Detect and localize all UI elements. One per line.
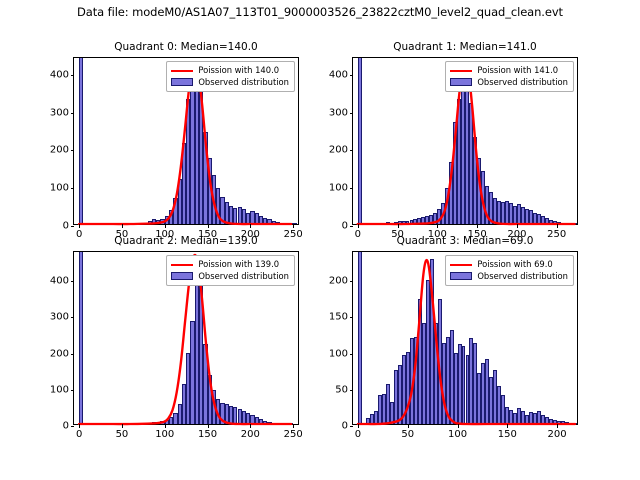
x-tick [165,424,166,428]
x-tick [293,424,294,428]
x-tick [517,224,518,228]
y-tick-label: 400 [50,69,69,80]
y-tick [71,317,75,318]
y-tick-label: 400 [50,276,69,287]
x-tick [122,424,123,428]
x-tick [398,224,399,228]
y-tick [350,281,354,282]
line-swatch-icon [171,70,193,72]
y-tick [350,426,354,427]
y-tick-label: 300 [50,107,69,118]
y-tick-label: 100 [329,183,348,194]
y-tick [71,226,75,227]
subplot-quadrant-0: Quadrant 0: Median=140.00501001502002500… [73,57,299,225]
legend-label-poisson: Poission with 140.0 [198,65,279,77]
legend-quadrant-3: Poission with 69.0Observed distribution [445,255,574,286]
legend-label-poisson: Poission with 69.0 [477,259,552,271]
x-tick [458,424,459,428]
legend-quadrant-0: Poission with 140.0Observed distribution [166,61,295,92]
subplot-quadrant-3: Quadrant 3: Median=69.005010015020005010… [352,251,578,425]
x-tick [79,424,80,428]
y-tick [350,113,354,114]
legend-entry-observed: Observed distribution [171,271,289,283]
x-tick-label: 100 [448,429,467,440]
patch-swatch-icon [171,272,193,280]
x-tick [358,224,359,228]
y-tick-label: 100 [50,384,69,395]
y-tick-label: 300 [50,312,69,323]
y-tick-label: 200 [329,276,348,287]
line-swatch-icon [450,264,472,266]
subplot-title-quadrant-2: Quadrant 2: Median=139.0 [73,235,299,247]
y-tick-label: 0 [63,421,69,432]
y-tick-label: 0 [342,421,348,432]
y-tick [71,354,75,355]
y-tick-label: 200 [329,145,348,156]
y-tick [350,354,354,355]
subplot-title-quadrant-1: Quadrant 1: Median=141.0 [352,41,578,53]
y-tick-label: 400 [329,69,348,80]
y-tick [350,188,354,189]
y-tick-label: 150 [329,312,348,323]
legend-label-observed: Observed distribution [477,271,568,283]
x-tick [477,224,478,228]
legend-label-observed: Observed distribution [198,271,289,283]
y-tick-label: 50 [335,384,348,395]
subplot-title-quadrant-0: Quadrant 0: Median=140.0 [73,41,299,53]
subplot-quadrant-1: Quadrant 1: Median=141.00501001502002500… [352,57,578,225]
y-tick [350,226,354,227]
subplot-quadrant-2: Quadrant 2: Median=139.00501001502002500… [73,251,299,425]
x-tick-label: 0 [355,429,361,440]
plot-area-quadrant-2: 0501001502002500100200300400Poission wit… [73,251,299,425]
x-tick [250,424,251,428]
plot-area-quadrant-3: 050100150200050100150200Poission with 69… [352,251,578,425]
plot-area-quadrant-1: 0501001502002500100200300400Poission wit… [352,57,578,225]
x-tick [122,224,123,228]
x-tick [250,224,251,228]
figure-canvas: Data file: modeM0/AS1A07_113T01_90000035… [0,0,640,480]
legend-entry-observed: Observed distribution [450,77,568,89]
x-tick [557,224,558,228]
legend-entry-observed: Observed distribution [450,271,568,283]
y-tick [350,317,354,318]
y-tick-label: 300 [329,107,348,118]
patch-swatch-icon [171,78,193,86]
legend-entry-poisson: Poission with 141.0 [450,65,568,77]
y-tick [71,426,75,427]
x-tick [507,424,508,428]
x-tick [358,424,359,428]
x-tick [293,224,294,228]
y-tick [350,150,354,151]
legend-label-poisson: Poission with 139.0 [198,259,279,271]
y-tick-label: 200 [50,348,69,359]
legend-entry-poisson: Poission with 139.0 [171,259,289,271]
x-tick [208,224,209,228]
y-tick-label: 100 [50,183,69,194]
patch-swatch-icon [450,272,472,280]
legend-label-poisson: Poission with 141.0 [477,65,558,77]
line-swatch-icon [171,264,193,266]
legend-quadrant-2: Poission with 139.0Observed distribution [166,255,295,286]
legend-entry-poisson: Poission with 140.0 [171,65,289,77]
y-tick [71,390,75,391]
y-tick [71,188,75,189]
x-tick [208,424,209,428]
plot-area-quadrant-0: 0501001502002500100200300400Poission wit… [73,57,299,225]
y-tick [71,150,75,151]
x-tick [557,424,558,428]
x-tick-label: 200 [241,429,260,440]
x-tick [408,424,409,428]
y-tick-label: 200 [50,145,69,156]
legend-quadrant-1: Poission with 141.0Observed distribution [445,61,574,92]
x-tick-label: 100 [155,429,174,440]
legend-label-observed: Observed distribution [198,77,289,89]
x-tick [79,224,80,228]
y-tick [71,113,75,114]
y-tick-label: 0 [63,221,69,232]
y-tick-label: 100 [329,348,348,359]
x-tick-label: 50 [401,429,414,440]
figure-suptitle: Data file: modeM0/AS1A07_113T01_90000035… [0,5,640,19]
line-swatch-icon [450,70,472,72]
patch-swatch-icon [450,78,472,86]
x-tick-label: 200 [548,429,567,440]
y-tick [71,75,75,76]
legend-label-observed: Observed distribution [477,77,568,89]
x-tick-label: 0 [76,429,82,440]
legend-entry-observed: Observed distribution [171,77,289,89]
y-tick [350,75,354,76]
x-tick [165,224,166,228]
x-tick-label: 150 [498,429,517,440]
subplot-title-quadrant-3: Quadrant 3: Median=69.0 [352,235,578,247]
x-tick-label: 150 [198,429,217,440]
x-tick-label: 50 [116,429,129,440]
y-tick-label: 0 [342,221,348,232]
y-tick [71,281,75,282]
x-tick-label: 250 [284,429,303,440]
x-tick [437,224,438,228]
y-tick [350,390,354,391]
legend-entry-poisson: Poission with 69.0 [450,259,568,271]
